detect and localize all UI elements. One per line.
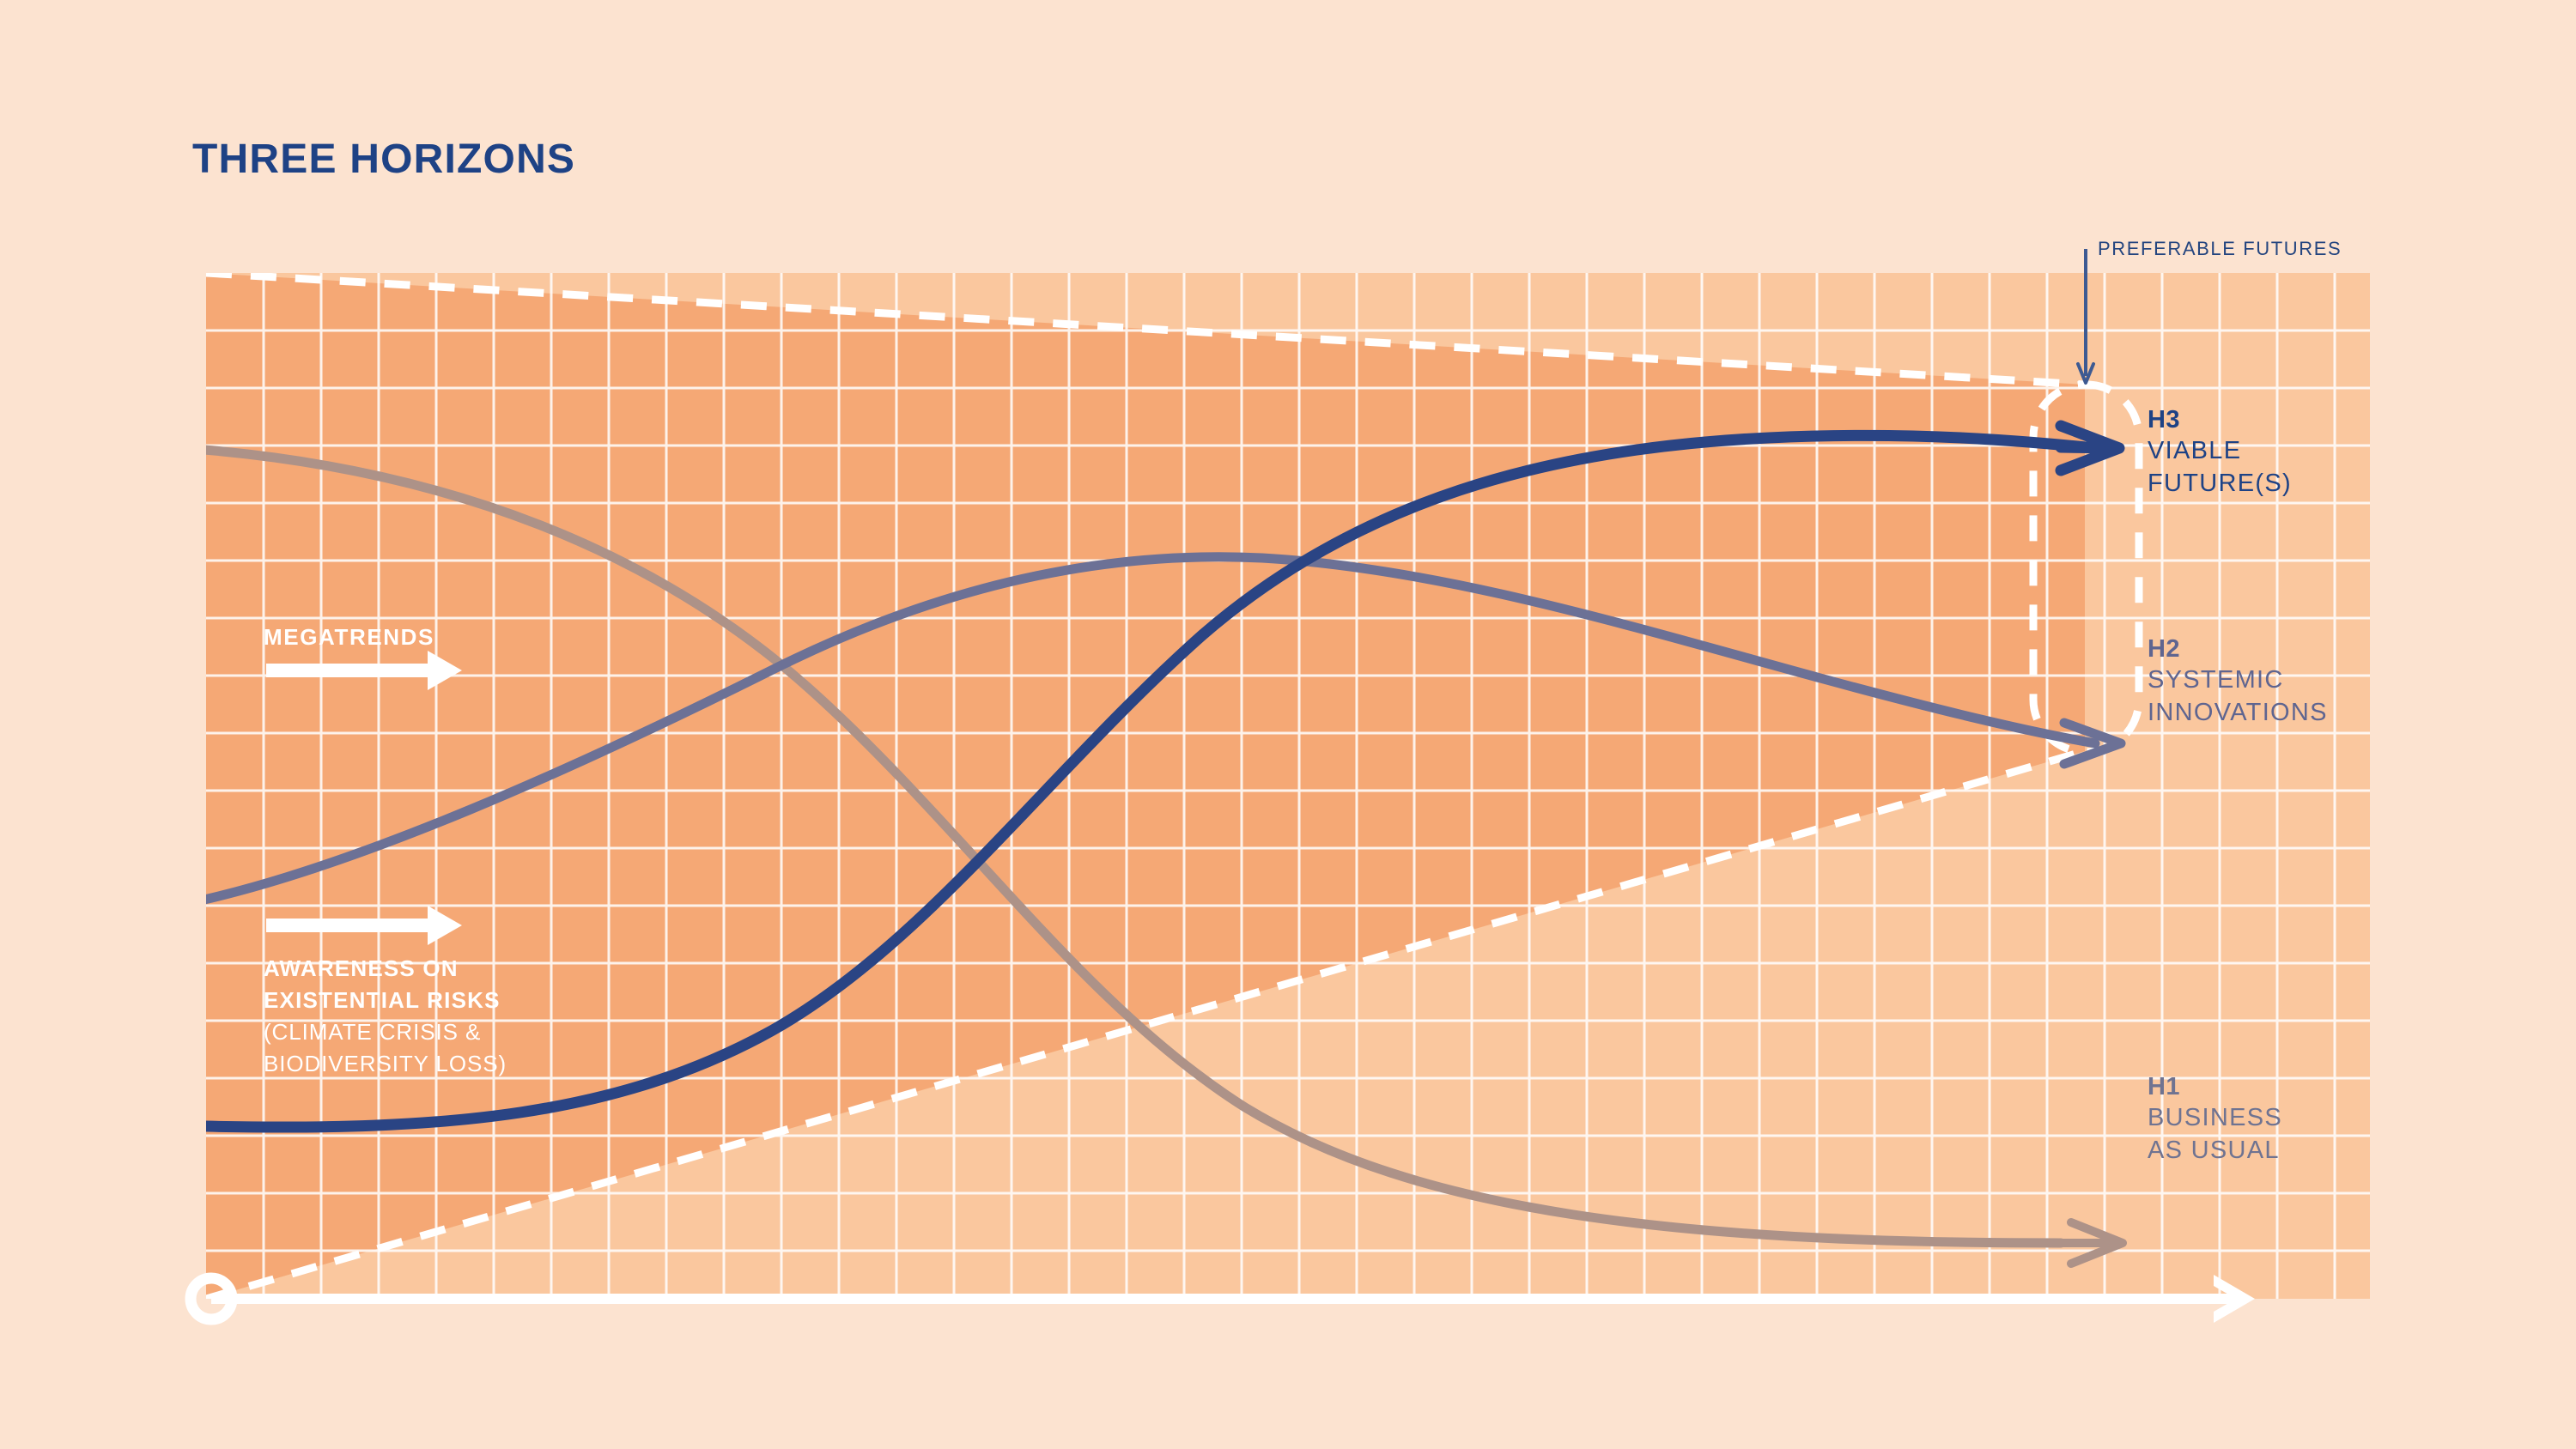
existential-risks-line2: EXISTENTIAL RISKS [264, 985, 624, 1016]
horizon-label-h3: H3 VIABLE FUTURE(S) [2148, 405, 2292, 500]
horizon-name-h3-line2: FUTURE(S) [2148, 467, 2292, 500]
existential-risks-line4: BIODIVERSITY LOSS) [264, 1048, 624, 1080]
horizon-name-h2-line2: INNOVATIONS [2148, 696, 2328, 729]
horizon-label-h1: H1 BUSINESS AS USUAL [2148, 1072, 2282, 1167]
horizon-label-h2: H2 SYSTEMIC INNOVATIONS [2148, 634, 2328, 730]
horizon-name-h1-line1: BUSINESS [2148, 1101, 2282, 1134]
existential-risks-line1: AWARENESS ON [264, 953, 624, 985]
horizon-code-h3: H3 [2148, 405, 2292, 434]
page-title: THREE HORIZONS [192, 136, 575, 183]
horizon-name-h1-line2: AS USUAL [2148, 1134, 2282, 1167]
plot-area [204, 273, 2370, 1299]
existential-risks-line3: (CLIMATE CRISIS & [264, 1016, 624, 1048]
horizon-name-h3-line1: VIABLE [2148, 434, 2292, 467]
existential-risks-label: AWARENESS ON EXISTENTIAL RISKS (CLIMATE … [264, 953, 624, 1080]
horizon-name-h2-line1: SYSTEMIC [2148, 664, 2328, 696]
preferable-futures-label: PREFERABLE FUTURES [2098, 238, 2342, 260]
megatrends-label: MEGATRENDS [264, 624, 434, 651]
horizon-code-h2: H2 [2148, 634, 2328, 664]
horizon-code-h1: H1 [2148, 1072, 2282, 1101]
